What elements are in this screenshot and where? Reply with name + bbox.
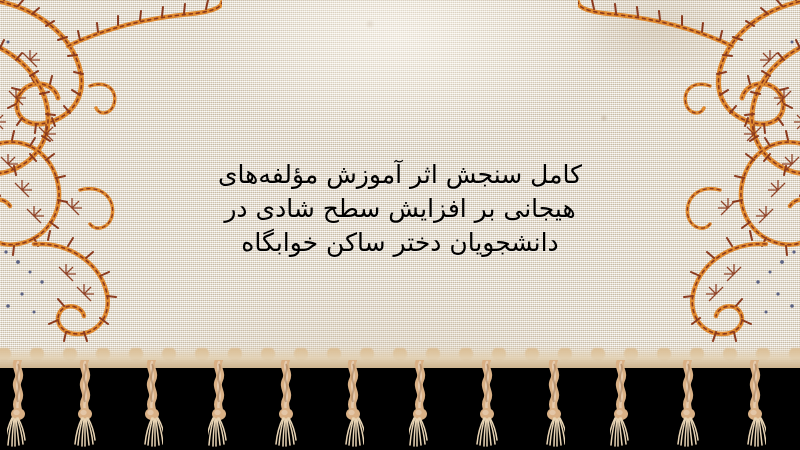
title-line-3: دانشجویان دختر ساکن خوابگاه [195, 226, 605, 260]
tassel [74, 360, 96, 448]
tassel [7, 360, 29, 448]
title-line-2: هیجانی بر افزایش سطح شادی در [195, 192, 605, 226]
tassel [409, 360, 431, 448]
tassel-fringe [0, 360, 800, 450]
tassel [476, 360, 498, 448]
tassel [744, 360, 766, 448]
tassel [141, 360, 163, 448]
tassel [208, 360, 230, 448]
slide-title: کامل سنجش اثر آموزش مؤلفه‌های هیجانی بر … [195, 158, 605, 260]
tassel [610, 360, 632, 448]
tassel [275, 360, 297, 448]
tassel [543, 360, 565, 448]
tassel [342, 360, 364, 448]
tassel [677, 360, 699, 448]
title-line-1: کامل سنجش اثر آموزش مؤلفه‌های [195, 158, 605, 192]
title-slide: کامل سنجش اثر آموزش مؤلفه‌های هیجانی بر … [0, 0, 800, 450]
